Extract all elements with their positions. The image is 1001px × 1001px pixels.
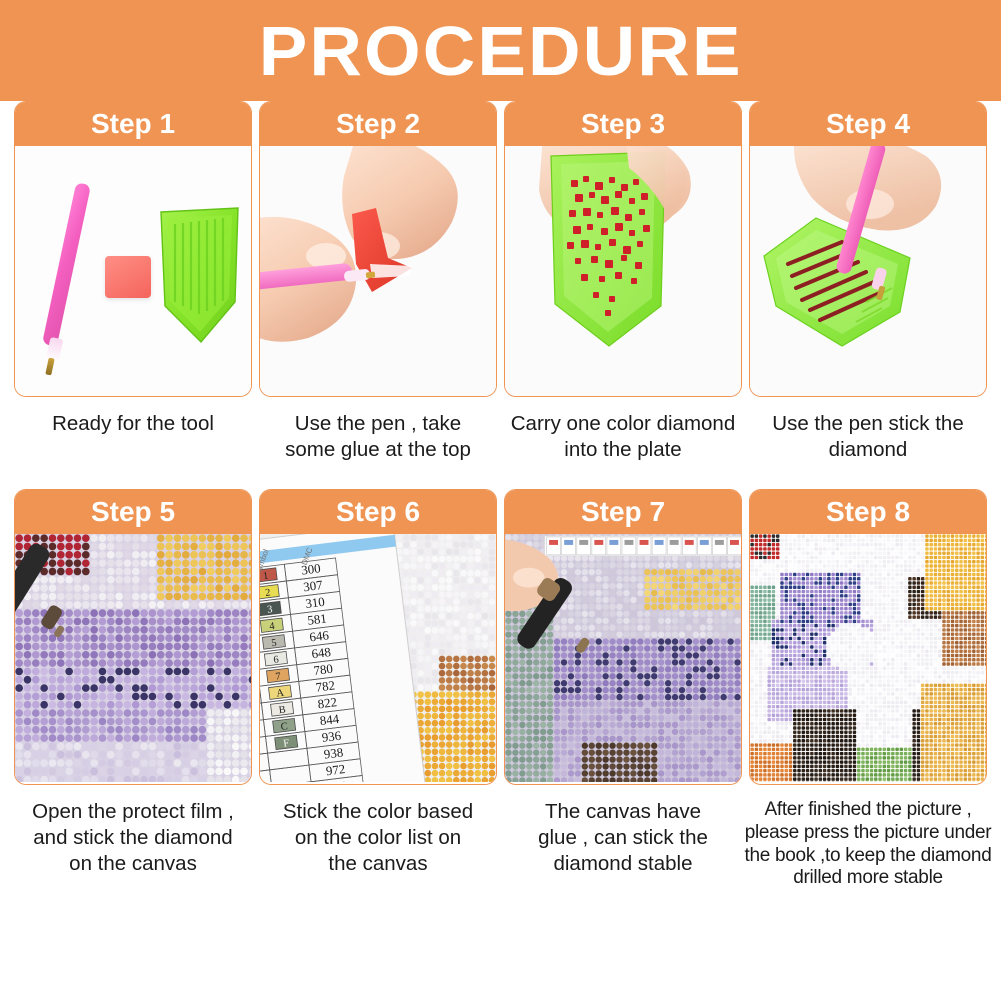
step-card-5[interactable]: Step 5: [14, 489, 252, 785]
svg-text:C: C: [280, 721, 288, 733]
svg-text:780: 780: [313, 662, 334, 678]
pink-pen-icon: [42, 182, 91, 347]
step-header-3: Step 3: [505, 102, 741, 146]
step-card-2[interactable]: Step 2: [259, 101, 497, 397]
svg-text:822: 822: [317, 695, 338, 711]
svg-text:310: 310: [305, 595, 326, 611]
step-header-2: Step 2: [260, 102, 496, 146]
caption-line: After finished the picture ,: [741, 799, 995, 822]
scene-color-chart: 113002230733310445815564666648777808A782…: [260, 534, 496, 782]
svg-text:648: 648: [311, 645, 332, 661]
step-card-3[interactable]: Step 3: [504, 101, 742, 397]
step-image-1: [15, 146, 251, 396]
caption-line: glue , can stick the: [506, 825, 740, 851]
step-card-7[interactable]: Step 7: [504, 489, 742, 785]
caption-line: and stick the diamond: [16, 825, 250, 851]
step-header-7: Step 7: [505, 490, 741, 534]
caption-line: Open the protect film ,: [16, 799, 250, 825]
scene-finished-artwork: [750, 534, 986, 782]
step-image-4: [750, 146, 986, 396]
step-cell-4: Step 4: [749, 101, 987, 489]
step-cell-6: Step 6 113002230733310445815564666648777…: [259, 489, 497, 883]
caption-line: on the color list on: [261, 825, 495, 851]
step-caption-4: Use the pen stick the diamond: [749, 397, 987, 489]
step-caption-2: Use the pen , take some glue at the top: [259, 397, 497, 489]
scene-tray-of-red-diamonds: [505, 146, 741, 396]
step-cell-1: Step 1: [14, 101, 252, 489]
step-caption-7: The canvas have glue , can stick the dia…: [504, 785, 742, 883]
steps-row-1: Step 1: [14, 101, 987, 489]
step-cell-2: Step 2: [259, 101, 497, 489]
step-image-8: [750, 534, 986, 784]
step-header-5: Step 5: [15, 490, 251, 534]
svg-text:B: B: [278, 704, 286, 716]
caption-line: The canvas have: [506, 799, 740, 825]
svg-text:936: 936: [321, 729, 342, 745]
caption-line: please press the picture under: [741, 822, 995, 845]
step-card-8[interactable]: Step 8: [749, 489, 987, 785]
scene-hands-pen-into-glue: [260, 146, 496, 396]
steps-row-2: Step 5 Open the protect film ,: [14, 489, 987, 883]
svg-text:646: 646: [309, 628, 330, 644]
step-cell-3: Step 3: [504, 101, 742, 489]
step-caption-3: Carry one color diamond into the plate: [504, 397, 742, 489]
step-header-4: Step 4: [750, 102, 986, 146]
step-label-7: Step 7: [581, 498, 665, 526]
scene-round-bead-mosaic: [15, 534, 251, 782]
caption-line: Use the pen , take: [261, 411, 495, 437]
step-card-4[interactable]: Step 4: [749, 101, 987, 397]
step-label-4: Step 4: [826, 110, 910, 138]
step-header-1: Step 1: [15, 102, 251, 146]
step-header-8: Step 8: [750, 490, 986, 534]
caption-line: Use the pen stick the: [751, 411, 985, 437]
step-cell-7: Step 7: [504, 489, 742, 883]
hands-and-glue-illustration: [260, 146, 478, 376]
step-cell-8: Step 8 After finished the picture , plea…: [749, 489, 987, 883]
step-image-2: [260, 146, 496, 396]
caption-line: some glue at the top: [261, 437, 495, 463]
step-caption-5: Open the protect film , and stick the di…: [14, 785, 252, 883]
caption-line: the canvas: [261, 851, 495, 877]
caption-line: Stick the color based: [261, 799, 495, 825]
svg-text:782: 782: [315, 678, 336, 694]
step-label-6: Step 6: [336, 498, 420, 526]
page-header: PROCEDURE: [0, 0, 1001, 101]
step-cell-5: Step 5 Open the protect film ,: [14, 489, 252, 883]
green-tray-icon: [157, 206, 242, 346]
glue-square-icon: [105, 256, 151, 298]
step-caption-8: After finished the picture , please pres…: [739, 785, 997, 883]
caption-line: Carry one color diamond: [506, 411, 740, 437]
scene-pen-on-canvas: [505, 534, 741, 782]
svg-text:844: 844: [319, 712, 340, 728]
pen-tray-rows-illustration: [750, 146, 968, 376]
step-header-6: Step 6: [260, 490, 496, 534]
step-image-5: [15, 534, 251, 784]
step-label-2: Step 2: [336, 110, 420, 138]
color-legend-strip: [545, 536, 741, 556]
step-caption-6: Stick the color based on the color list …: [259, 785, 497, 883]
step-label-3: Step 3: [581, 110, 665, 138]
step-image-3: [505, 146, 741, 396]
step-card-1[interactable]: Step 1: [14, 101, 252, 397]
step-label-1: Step 1: [91, 110, 175, 138]
step-caption-1: Ready for the tool: [14, 397, 252, 489]
hand-tray-diamonds-illustration: [505, 146, 723, 376]
svg-text:938: 938: [323, 745, 344, 761]
step-image-7: [505, 534, 741, 784]
caption-line: diamond stable: [506, 851, 740, 877]
caption-line: drilled more stable: [741, 867, 995, 890]
step-label-5: Step 5: [91, 498, 175, 526]
steps-grid: Step 1: [0, 101, 1001, 883]
step-label-8: Step 8: [826, 498, 910, 526]
caption-line: on the canvas: [16, 851, 250, 877]
svg-text:581: 581: [307, 612, 328, 628]
caption-line: the book ,to keep the diamond: [741, 845, 995, 868]
svg-text:307: 307: [303, 578, 324, 594]
page-title: PROCEDURE: [259, 16, 743, 86]
step-card-6[interactable]: Step 6 113002230733310445815564666648777…: [259, 489, 497, 785]
step-image-6: 113002230733310445815564666648777808A782…: [260, 534, 496, 784]
caption-line: into the plate: [506, 437, 740, 463]
scene-tools-laid-out: [15, 146, 251, 396]
svg-text:972: 972: [325, 762, 346, 778]
caption-line: diamond: [751, 437, 985, 463]
scene-pen-picking-diamond: [750, 146, 986, 396]
